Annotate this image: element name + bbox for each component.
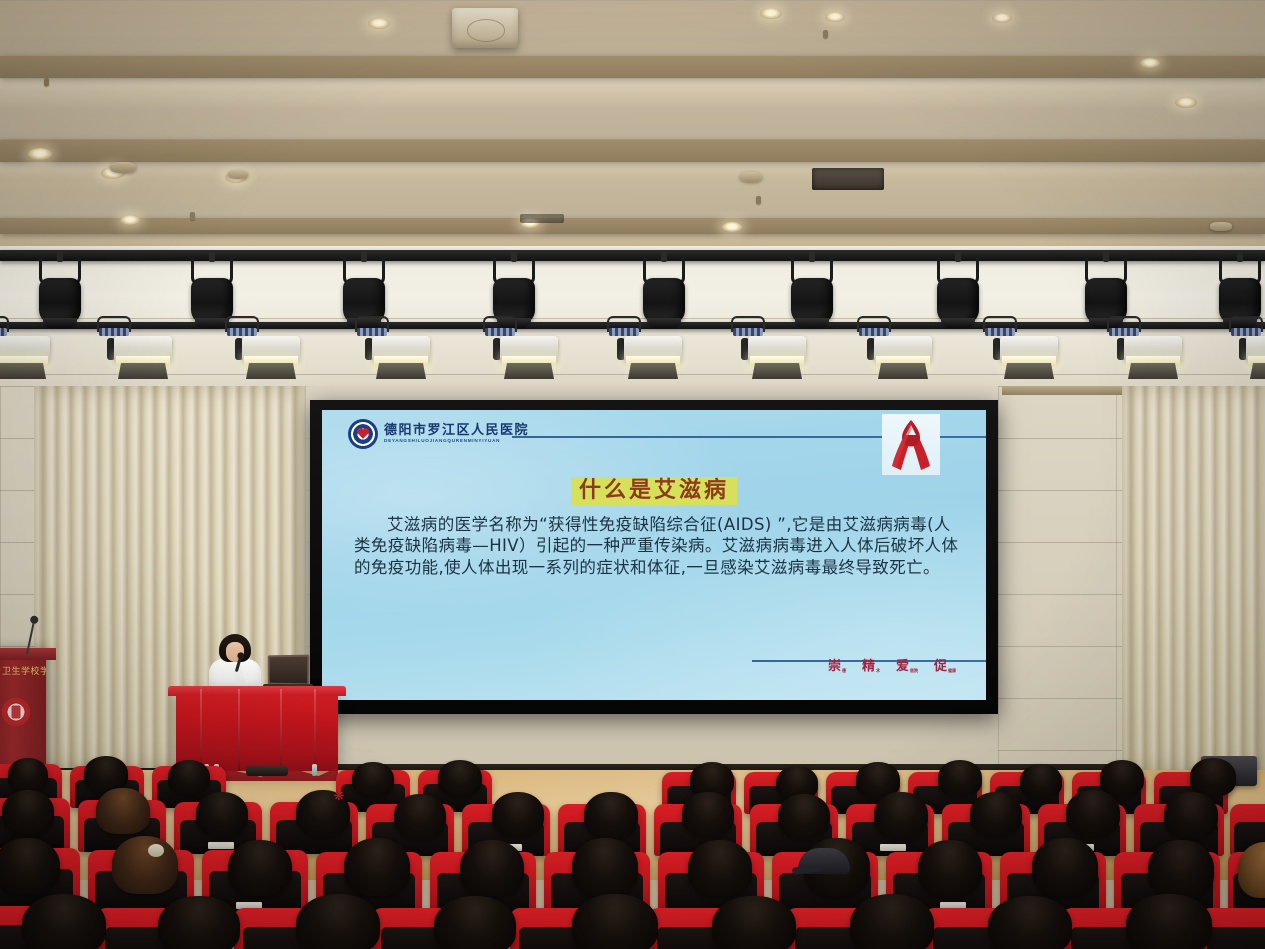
audience-head	[1164, 792, 1218, 838]
audience-head	[158, 896, 240, 949]
slide-title: 什么是艾滋病	[322, 472, 986, 504]
baseball-cap	[798, 848, 850, 874]
ceiling-soffit	[0, 140, 1265, 162]
audience-head	[1020, 764, 1062, 798]
ceiling-projector-unit	[452, 8, 518, 48]
audience-head	[1032, 838, 1098, 896]
hospital-name-pinyin: DEYANGSHILUOJIANGQURENMINYIYUAN	[384, 439, 529, 444]
slide-body: 艾滋病的医学名称为“获得性免疫缺陷综合征(AIDS) ”,它是由艾滋病病毒(人类…	[354, 514, 960, 578]
ceiling-soffit	[0, 218, 1265, 234]
laptop-screen	[268, 655, 310, 686]
ceiling-downlight	[760, 8, 782, 19]
ceiling-downlight	[368, 18, 390, 29]
audience-head	[688, 840, 752, 896]
audience-head	[84, 756, 128, 792]
ceiling-downlight	[120, 215, 140, 225]
motto-item: 促 健康	[934, 655, 956, 674]
hospital-logo: 德阳市罗江区人民医院 DEYANGSHILUOJIANGQURENMINYIYU…	[348, 419, 529, 449]
audience-head	[938, 760, 982, 796]
smoke-detector	[740, 172, 762, 182]
smoke-detector	[110, 162, 136, 173]
audience-head	[970, 792, 1022, 836]
audience-head	[434, 896, 516, 949]
audience-head	[1126, 894, 1212, 949]
audience-head	[8, 758, 48, 792]
audience-head	[778, 794, 830, 838]
motto-char: 精	[862, 655, 875, 674]
ceiling-air-vent	[520, 214, 564, 223]
ceiling-band	[0, 78, 1265, 140]
audience-head	[344, 838, 410, 896]
audience-head	[394, 794, 446, 838]
audience-head	[228, 840, 292, 896]
slide-body-text: 艾滋病的医学名称为“获得性免疫缺陷综合征(AIDS) ”,它是由艾滋病病毒(人类…	[354, 514, 960, 578]
audience-head	[96, 788, 150, 834]
audience-head	[1148, 840, 1214, 898]
audience-head	[1190, 758, 1236, 796]
motto-sub: 德	[842, 668, 846, 674]
motto-sub: 术	[876, 668, 880, 674]
ceiling-air-vent	[812, 168, 884, 190]
ceiling-band	[0, 0, 1265, 58]
ceiling	[0, 0, 1265, 250]
audience-head	[572, 838, 638, 896]
podium-emblem-icon	[2, 698, 30, 726]
motto-char: 促	[934, 655, 947, 674]
audience-head	[352, 762, 394, 796]
podium-label: 卫生学校学院	[2, 664, 46, 677]
seat-number-card	[880, 844, 906, 851]
smoke-detector	[1210, 222, 1232, 231]
smoke-detector	[228, 170, 248, 179]
motto-sub: 医院	[910, 668, 918, 674]
ceiling-downlight	[722, 222, 742, 232]
ceiling-band	[0, 162, 1265, 220]
audience-head	[874, 792, 928, 838]
motto-item: 精 术	[862, 655, 880, 674]
ceiling-downlight	[1175, 97, 1197, 108]
seat-number-card	[208, 842, 234, 849]
audience-head	[438, 760, 482, 796]
audience-head	[572, 894, 658, 949]
motto-item: 崇 德	[828, 655, 846, 674]
auditorium-photo: 德阳市罗江区人民医院 DEYANGSHILUOJIANGQURENMINYIYU…	[0, 0, 1265, 949]
motto-sub: 健康	[948, 668, 956, 674]
audience-head	[712, 896, 796, 949]
sprinkler-head	[823, 30, 828, 38]
hospital-motto: 崇 德 精 术 爱 医院 促 健康	[828, 655, 956, 674]
presentation-slide: 德阳市罗江区人民医院 DEYANGSHILUOJIANGQURENMINYIYU…	[322, 410, 986, 700]
audience-head	[1066, 790, 1120, 836]
audience-head	[492, 792, 544, 836]
audience-seating: ❋	[0, 756, 1265, 949]
audience-head	[988, 896, 1072, 949]
red-aids-ribbon-icon	[882, 414, 940, 475]
audience-head	[682, 792, 734, 836]
lighting-truss-upper	[0, 250, 1265, 261]
sprinkler-head	[44, 78, 49, 86]
hair-ornament: ❋	[330, 790, 348, 804]
presenter	[205, 634, 265, 694]
hair-scrunchie	[148, 844, 164, 857]
audience-head	[22, 894, 106, 949]
audience-head	[1100, 760, 1144, 796]
audience-head	[850, 894, 934, 949]
ceiling-soffit	[0, 56, 1265, 78]
slide-title-text: 什么是艾滋病	[571, 477, 737, 505]
audience-head	[112, 836, 178, 894]
motto-char: 爱	[896, 655, 909, 674]
audience-head	[168, 760, 210, 794]
audience-head	[296, 894, 380, 949]
ceiling-downlight	[992, 13, 1012, 23]
sprinkler-head	[756, 196, 761, 204]
hospital-name-cn: 德阳市罗江区人民医院	[384, 424, 529, 437]
hospital-crest-icon	[348, 419, 378, 449]
sprinkler-head	[190, 212, 195, 220]
audience-head	[584, 792, 638, 838]
stage-curtain-right	[1122, 386, 1265, 771]
audience-head	[918, 840, 982, 896]
motto-item: 爱 医院	[896, 655, 918, 674]
audience-head	[196, 792, 248, 836]
motto-char: 崇	[828, 655, 841, 674]
ceiling-downlight	[1140, 58, 1160, 68]
ceiling-downlight	[825, 12, 845, 22]
audience-head	[460, 840, 524, 896]
projection-screen-frame: 德阳市罗江区人民医院 DEYANGSHILUOJIANGQURENMINYIYU…	[310, 400, 998, 714]
audience-head	[0, 838, 60, 894]
ceiling-downlight	[28, 148, 52, 160]
audience-head	[2, 790, 54, 834]
